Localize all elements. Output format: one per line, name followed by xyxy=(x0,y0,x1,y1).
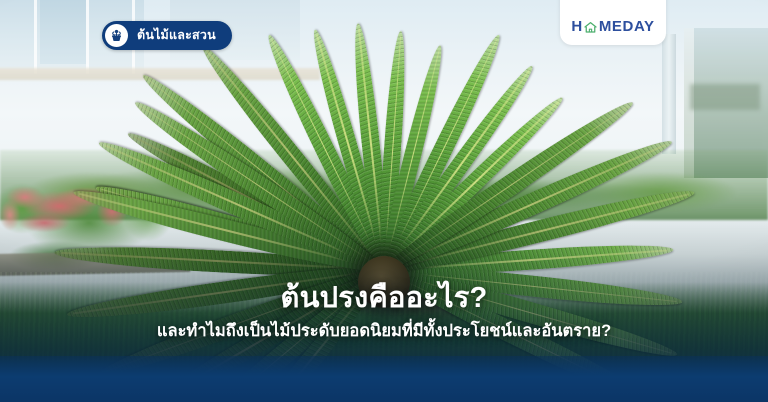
brand-logo-card[interactable]: H MEDAY xyxy=(560,0,666,45)
logo-suffix: MEDAY xyxy=(599,19,655,34)
window-mullion xyxy=(34,0,37,74)
window-mullion xyxy=(86,0,89,74)
wall-ledge xyxy=(0,68,320,80)
homeday-logo: H MEDAY xyxy=(571,19,654,34)
house-icon xyxy=(583,20,598,35)
subheadline: และทำไมถึงเป็นไม้ประดับยอดนิยมที่มีทั้งป… xyxy=(26,321,742,342)
headline: ต้นปรงคืออะไร? xyxy=(26,281,742,315)
post-right xyxy=(662,34,676,154)
title-block: ต้นปรงคืออะไร? และทำไมถึงเป็นไม้ประดับยอ… xyxy=(0,281,768,356)
logo-prefix: H xyxy=(571,19,582,34)
building-left-panel xyxy=(40,0,86,64)
article-cover-image: ต้นไม้และสวน H MEDAY ต้นปรงคืออะไร? และท… xyxy=(0,0,768,402)
category-badge-label: ต้นไม้และสวน xyxy=(137,29,216,42)
category-badge[interactable]: ต้นไม้และสวน xyxy=(102,21,232,50)
plant-in-pot-icon xyxy=(105,24,128,47)
